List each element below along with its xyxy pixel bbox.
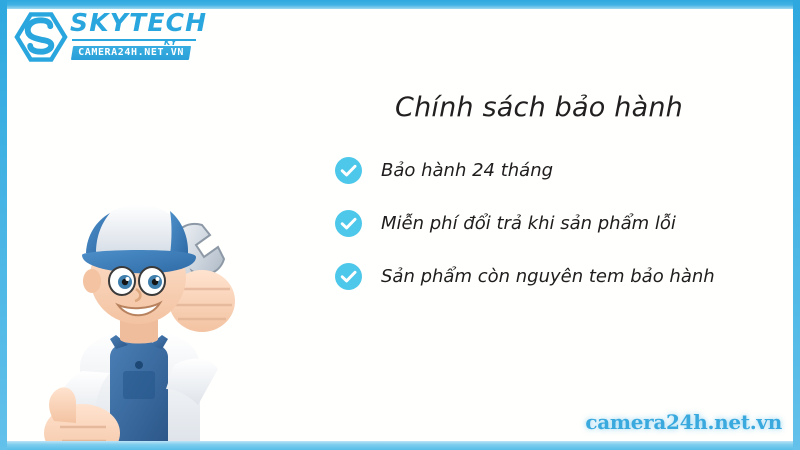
list-item-label: Sản phẩm còn nguyên tem bảo hành <box>381 266 715 288</box>
list-item-label: Miễn phí đổi trả khi sản phẩm lỗi <box>381 213 676 235</box>
list-item-label: Bảo hành 24 tháng <box>381 160 553 182</box>
page-title: Chính sách bảo hành <box>335 92 787 123</box>
content-panel: Chính sách bảo hành Bảo hành 24 tháng Mi… <box>335 92 787 290</box>
check-circle-icon <box>335 263 362 290</box>
logo-website-banner: CAMERA24H.NET.VN <box>71 46 191 60</box>
list-item: Bảo hành 24 tháng <box>335 157 787 184</box>
check-circle-icon <box>335 157 362 184</box>
list-item: Sản phẩm còn nguyên tem bảo hành <box>335 263 787 290</box>
warranty-feature-list: Bảo hành 24 tháng Miễn phí đổi trả khi s… <box>335 157 787 290</box>
skytech-hexagon-s-icon <box>14 12 68 62</box>
logo-website-text: CAMERA24H.NET.VN <box>78 47 184 58</box>
list-item: Miễn phí đổi trả khi sản phẩm lỗi <box>335 210 787 237</box>
site-watermark[interactable]: camera24h.net.vn <box>585 410 782 434</box>
banner-border-right <box>793 0 800 450</box>
check-circle-icon <box>335 210 362 237</box>
banner-border-bottom <box>0 441 800 450</box>
banner-border-left <box>0 0 7 450</box>
brand-logo[interactable]: SKYTECH KY CAMERA24H.NET.VN <box>14 8 210 66</box>
warranty-policy-banner: SKYTECH KY CAMERA24H.NET.VN <box>0 0 800 450</box>
logo-wordmark: SKYTECH <box>70 10 207 35</box>
logo-divider-rule <box>72 39 196 41</box>
handyman-technician-mascot <box>24 189 252 441</box>
